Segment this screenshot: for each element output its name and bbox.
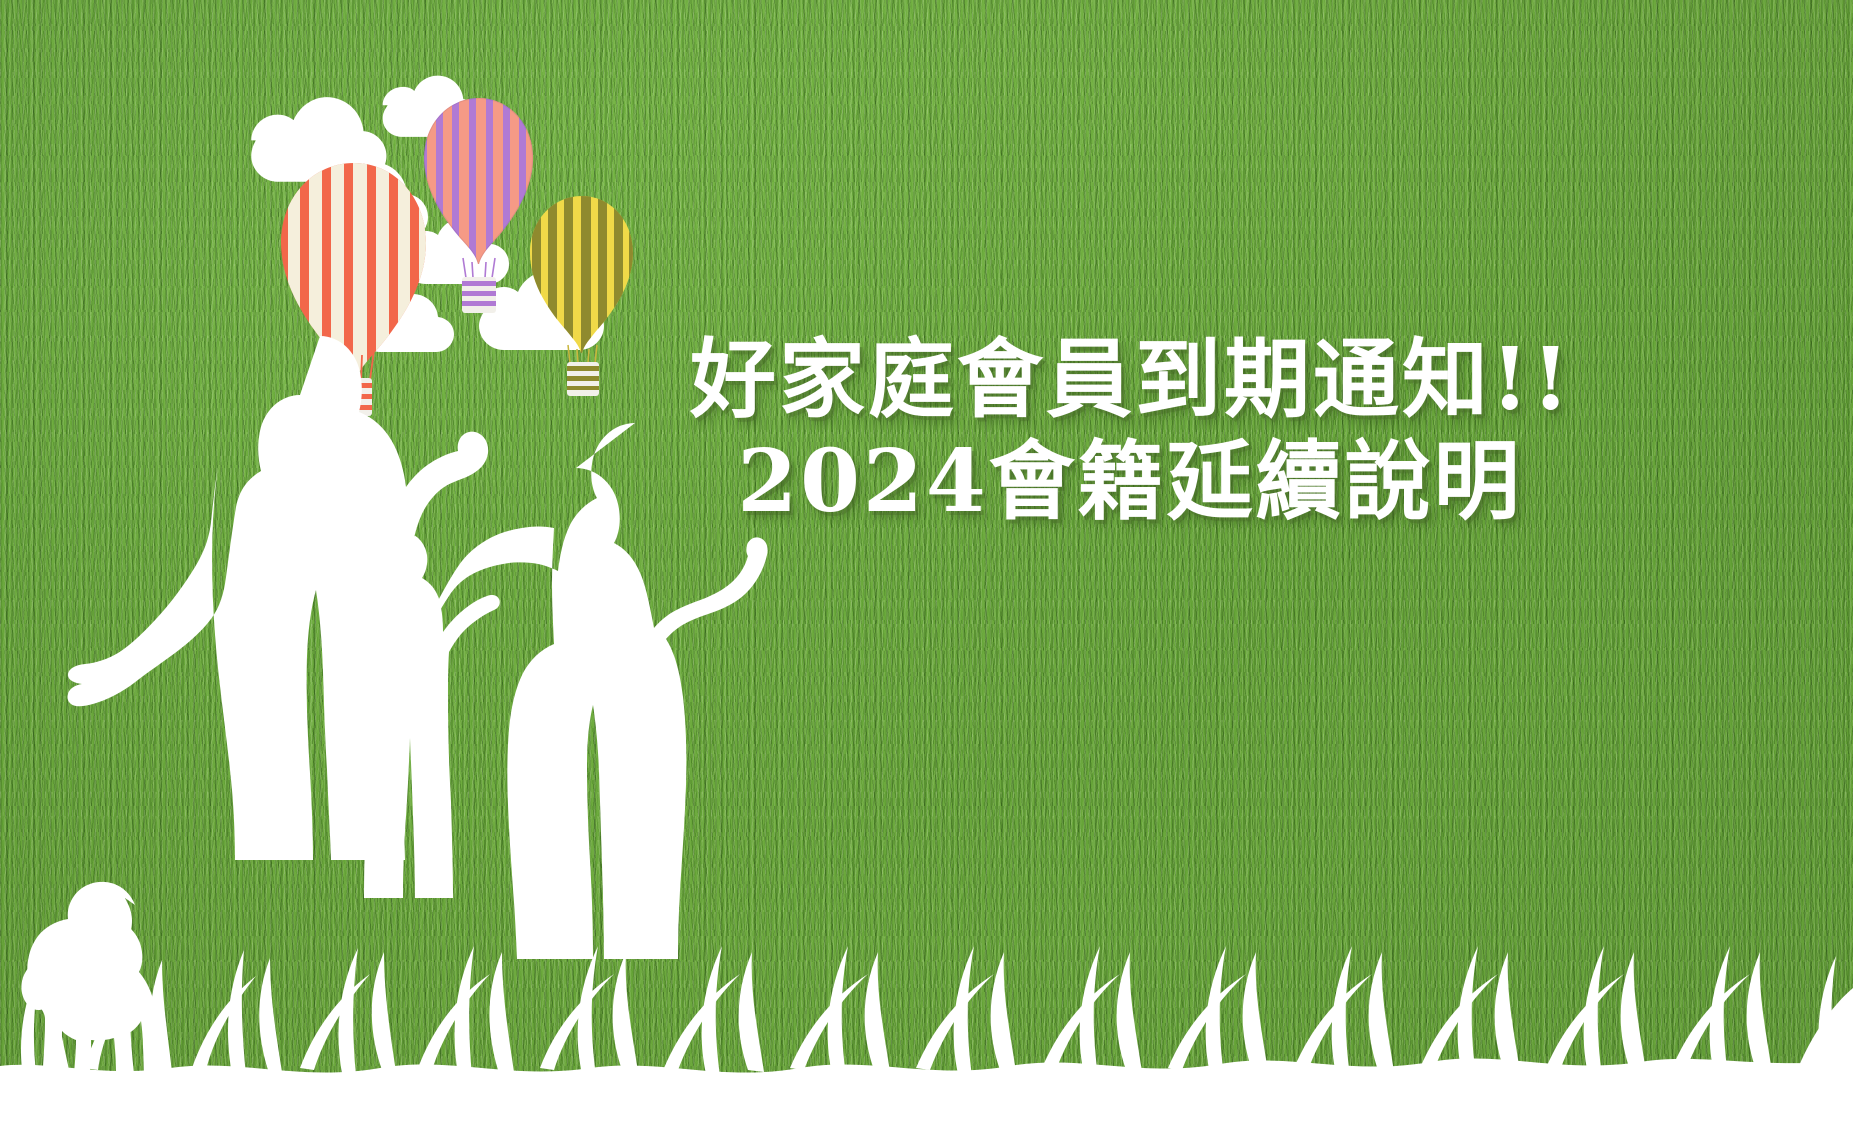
banner-title-block: 好家庭會員到期通知!! 2024會籍延續說明 xyxy=(690,332,1570,531)
membership-expiry-banner: 好家庭會員到期通知!! 2024會籍延續說明 xyxy=(0,0,1853,1129)
title-line-1: 好家庭會員到期通知!! xyxy=(690,332,1570,428)
grass-vignette xyxy=(0,0,1853,1129)
title-line-2: 2024會籍延續說明 xyxy=(690,434,1570,530)
